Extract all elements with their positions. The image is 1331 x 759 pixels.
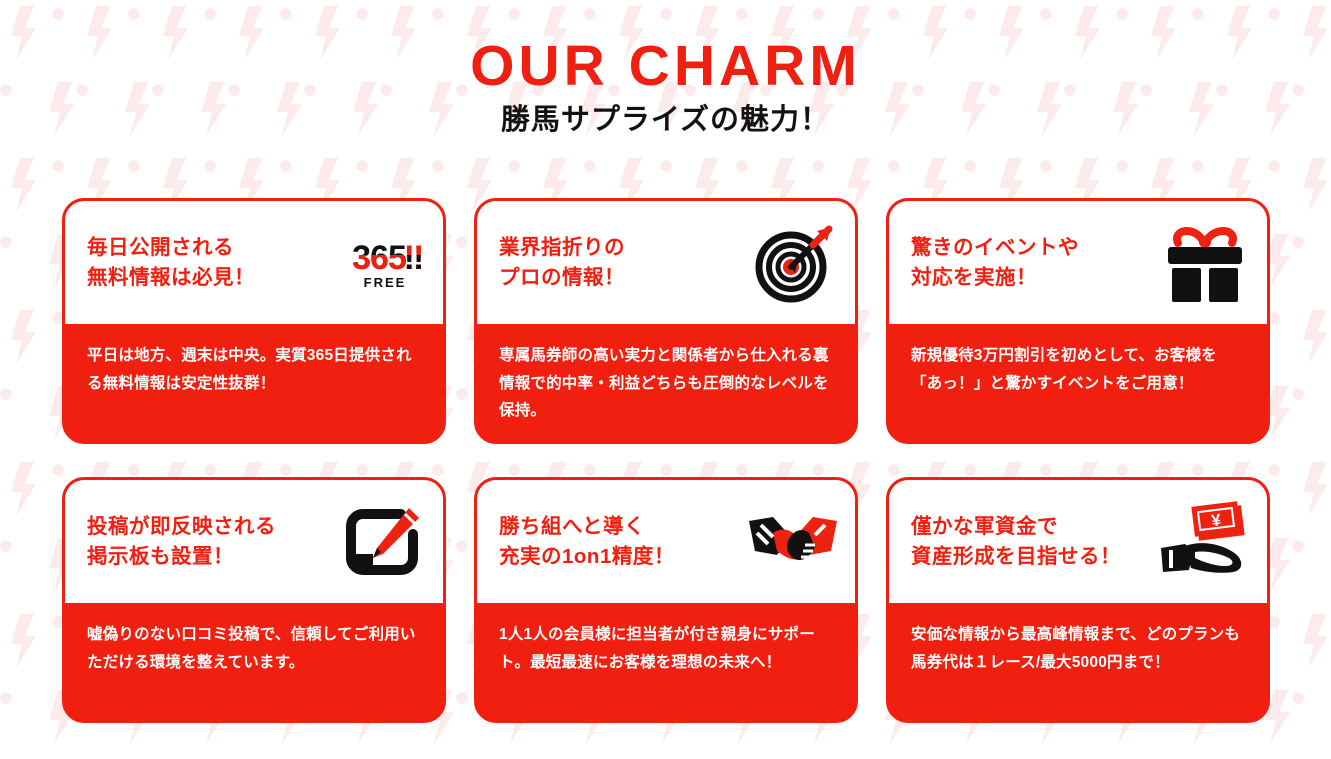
section-heading: OUR CHARM 勝馬サプライズの魅力！	[0, 0, 1331, 137]
card-description: 1人1人の会員様に担当者が付き親身にサポート。最短最速にお客様を理想の未来へ！	[477, 603, 855, 720]
charm-card-bulletin-board[interactable]: 投稿が即反映される 掲示板も設置！ 嘘偽りのない口コミ投稿で、信頼してご利用いた…	[62, 477, 446, 723]
card-title: 毎日公開される 無料情報は必見！	[87, 233, 255, 292]
365-free-logo-icon: 365 !! 365 !! FREE	[333, 220, 429, 306]
card-description: 平日は地方、週末は中央。実質365日提供される無料情報は安定性抜群！	[65, 324, 443, 441]
charm-card-surprise-events[interactable]: 驚きのイベントや 対応を実施！ 新規優待3万円割引を初めとして、お客様を「あっ！…	[886, 198, 1270, 444]
card-description: 嘘偽りのない口コミ投稿で、信頼してご利用いただける環境を整えています。	[65, 603, 443, 720]
card-title: 業界指折りの プロの情報！	[499, 233, 625, 292]
card-title: 勝ち組へと導く 充実の1on1精度！	[499, 512, 675, 571]
our-charm-section: OUR CHARM 勝馬サプライズの魅力！ 毎日公開される 無料情報は必見！ 3…	[0, 0, 1331, 759]
card-title: 驚きのイベントや 対応を実施！	[911, 233, 1079, 292]
hand-money-yen-icon: ¥	[1157, 499, 1253, 585]
card-description: 専属馬券師の高い実力と関係者から仕入れる裏情報で的中率・利益どちらも圧倒的なレベ…	[477, 324, 855, 441]
charm-card-one-on-one-support[interactable]: 勝ち組へと導く 充実の1on1精度！	[474, 477, 858, 723]
target-dartboard-icon	[745, 220, 841, 306]
page-title-english: OUR CHARM	[0, 38, 1331, 95]
card-header: 業界指折りの プロの情報！	[477, 201, 855, 324]
notepad-pencil-icon	[333, 499, 429, 585]
card-title: 僅かな軍資金で 資産形成を目指せる！	[911, 512, 1121, 571]
charm-card-pro-information[interactable]: 業界指折りの プロの情報！ 専属馬券師の高い実力と関係者から仕入れる裏情報で的中…	[474, 198, 858, 444]
card-header: 毎日公開される 無料情報は必見！ 365 !! 365 !! FREE	[65, 201, 443, 324]
card-description: 安価な情報から最高峰情報まで、どのプランも馬券代は１レース/最大5000円まで！	[889, 603, 1267, 720]
card-header: 投稿が即反映される 掲示板も設置！	[65, 480, 443, 603]
charm-card-grid: 毎日公開される 無料情報は必見！ 365 !! 365 !! FREE 平日は地…	[62, 198, 1270, 723]
gift-box-icon	[1157, 220, 1253, 306]
svg-text:FREE: FREE	[364, 275, 407, 290]
card-header: 勝ち組へと導く 充実の1on1精度！	[477, 480, 855, 603]
card-description: 新規優待3万円割引を初めとして、お客様を「あっ！」と驚かすイベントをご用意！	[889, 324, 1267, 441]
card-header: 僅かな軍資金で 資産形成を目指せる！ ¥	[889, 480, 1267, 603]
handshake-icon	[745, 499, 841, 585]
charm-card-daily-free-info[interactable]: 毎日公開される 無料情報は必見！ 365 !! 365 !! FREE 平日は地…	[62, 198, 446, 444]
page-title-japanese: 勝馬サプライズの魅力！	[0, 105, 1331, 137]
card-title: 投稿が即反映される 掲示板も設置！	[87, 512, 276, 571]
card-header: 驚きのイベントや 対応を実施！	[889, 201, 1267, 324]
charm-card-low-capital-asset-building[interactable]: 僅かな軍資金で 資産形成を目指せる！ ¥ 安価な情報から最高峰情報まで、どのプラ…	[886, 477, 1270, 723]
